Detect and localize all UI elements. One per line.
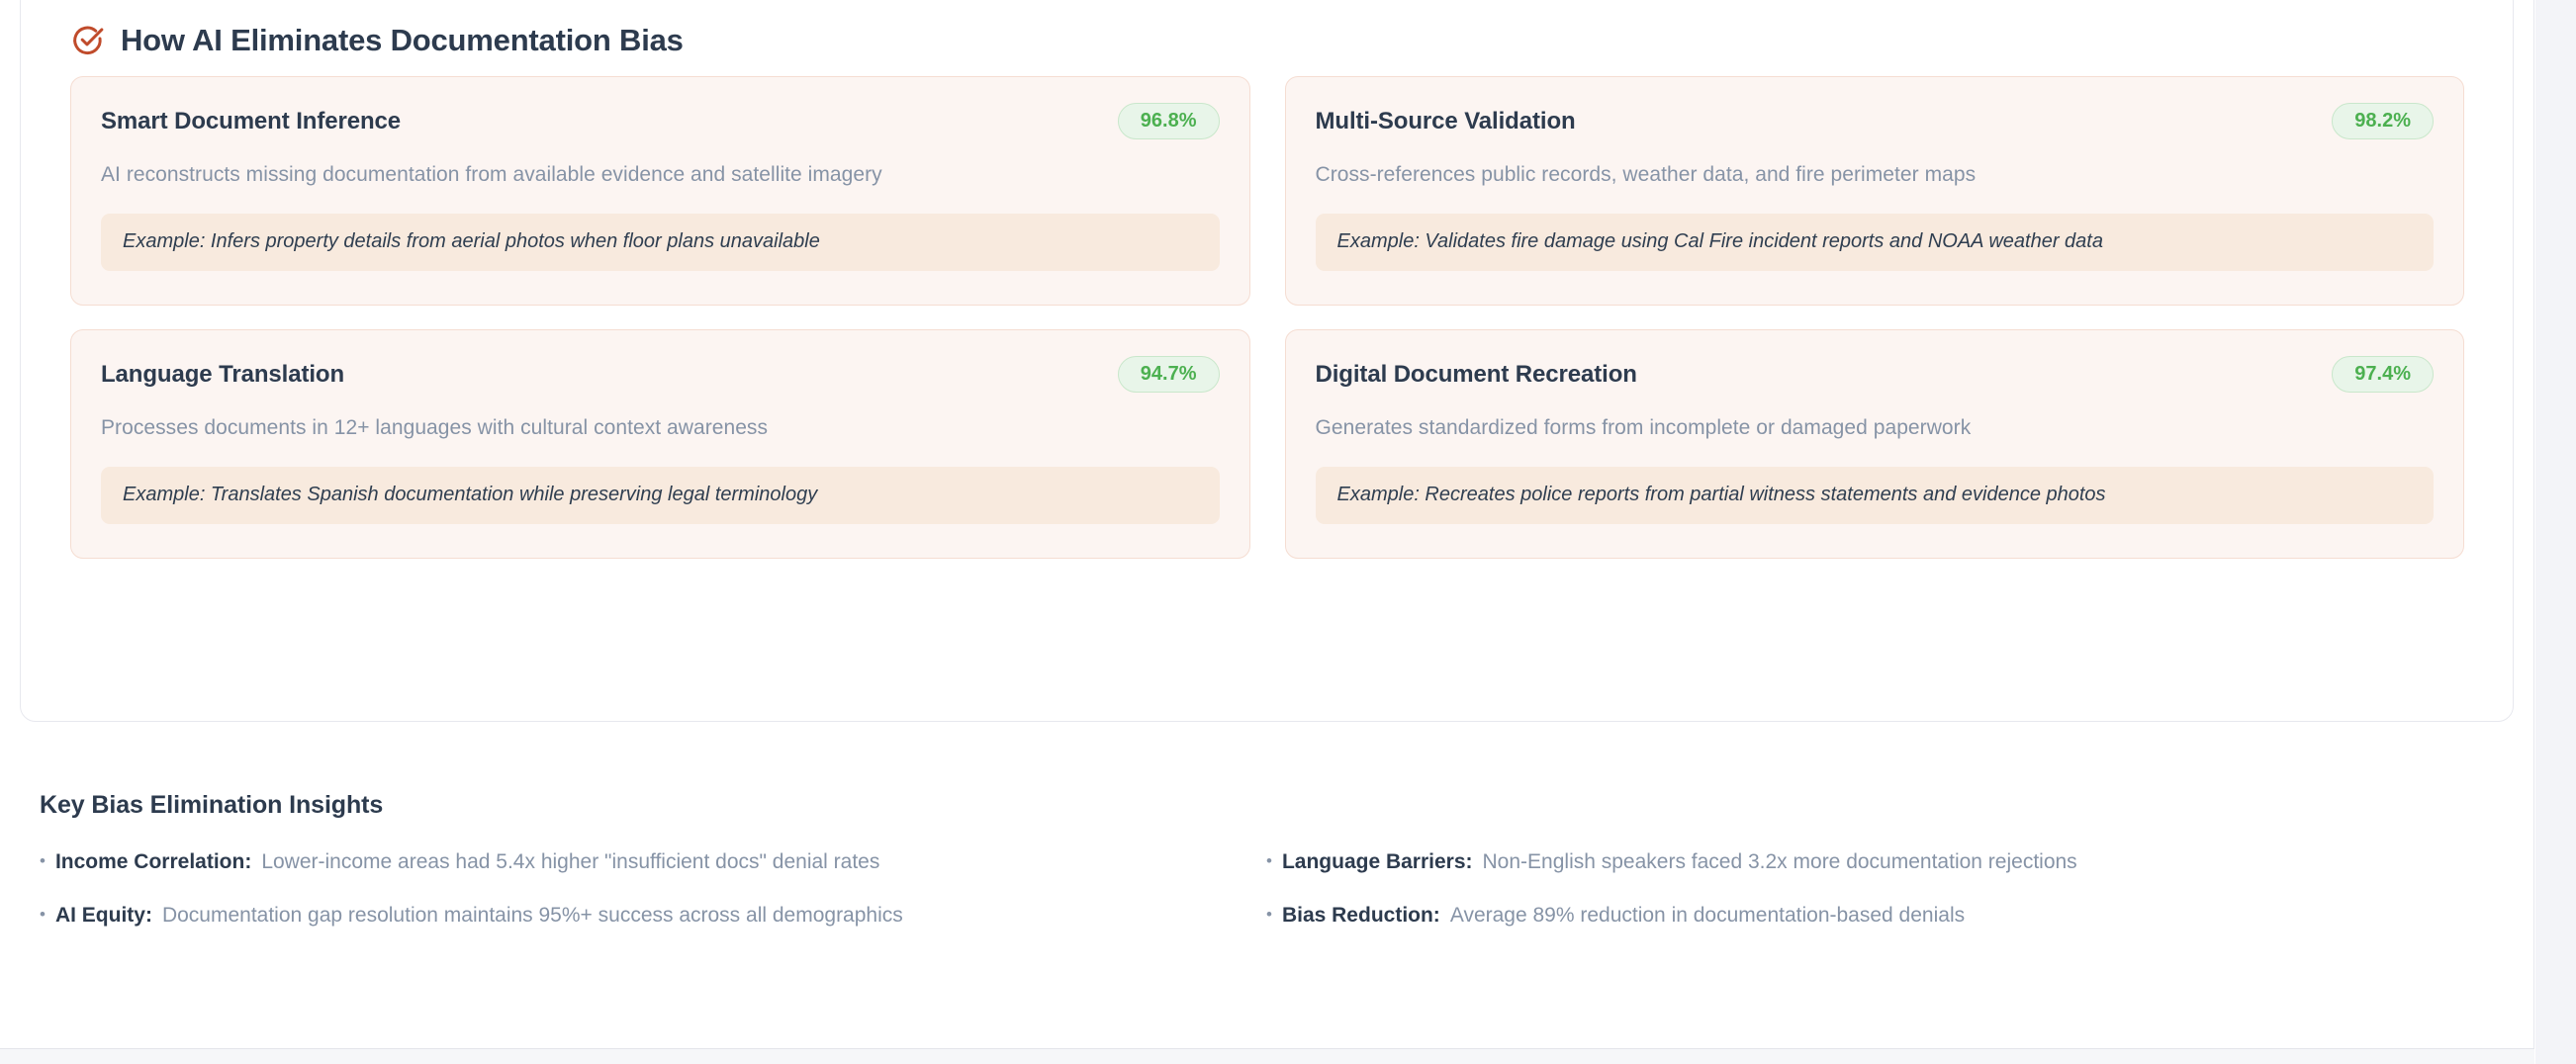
panel-header: How AI Eliminates Documentation Bias <box>70 23 684 58</box>
documentation-bias-panel: How AI Eliminates Documentation Bias Sma… <box>20 0 2514 722</box>
vertical-scrollbar[interactable] <box>2535 0 2576 1064</box>
key-insights-section: Key Bias Elimination Insights • Income C… <box>40 791 2493 928</box>
card-header: Digital Document Recreation 97.4% <box>1316 356 2435 393</box>
card-title: Digital Document Recreation <box>1316 361 1637 389</box>
capability-card[interactable]: Smart Document Inference 96.8% AI recons… <box>70 76 1250 306</box>
card-title: Multi-Source Validation <box>1316 108 1576 135</box>
accuracy-badge: 94.7% <box>1118 356 1220 393</box>
card-example: Example: Recreates police reports from p… <box>1316 467 2435 524</box>
insight-label: AI Equity: <box>55 904 152 928</box>
card-description: Cross-references public records, weather… <box>1316 163 2435 187</box>
card-header: Multi-Source Validation 98.2% <box>1316 103 2435 139</box>
insight-item: • Income Correlation: Lower-income areas… <box>40 850 1266 874</box>
insight-label: Bias Reduction: <box>1282 904 1440 928</box>
card-example: Example: Translates Spanish documentatio… <box>101 467 1220 524</box>
card-description: Generates standardized forms from incomp… <box>1316 416 2435 440</box>
insight-item: • AI Equity: Documentation gap resolutio… <box>40 904 1266 928</box>
card-title: Language Translation <box>101 361 344 389</box>
accuracy-badge: 98.2% <box>2332 103 2434 139</box>
card-title: Smart Document Inference <box>101 108 401 135</box>
insight-text: Documentation gap resolution maintains 9… <box>162 904 903 928</box>
bullet-icon: • <box>1266 906 1272 923</box>
insight-text: Non-English speakers faced 3.2x more doc… <box>1483 850 2077 874</box>
card-example: Example: Infers property details from ae… <box>101 214 1220 271</box>
card-header: Smart Document Inference 96.8% <box>101 103 1220 139</box>
page-content: How AI Eliminates Documentation Bias Sma… <box>0 0 2534 1064</box>
bullet-icon: • <box>40 852 46 869</box>
capability-card[interactable]: Digital Document Recreation 97.4% Genera… <box>1285 329 2465 559</box>
page-title: How AI Eliminates Documentation Bias <box>121 23 684 58</box>
insight-label: Language Barriers: <box>1282 850 1473 874</box>
card-header: Language Translation 94.7% <box>101 356 1220 393</box>
capability-card[interactable]: Multi-Source Validation 98.2% Cross-refe… <box>1285 76 2465 306</box>
insights-title: Key Bias Elimination Insights <box>40 791 2493 820</box>
bullet-icon: • <box>1266 852 1272 869</box>
card-description: Processes documents in 12+ languages wit… <box>101 416 1220 440</box>
circle-check-icon <box>70 24 104 57</box>
insight-text: Average 89% reduction in documentation-b… <box>1450 904 1965 928</box>
bottom-strip <box>0 1049 2534 1064</box>
capability-card[interactable]: Language Translation 94.7% Processes doc… <box>70 329 1250 559</box>
accuracy-badge: 96.8% <box>1118 103 1220 139</box>
insight-item: • Language Barriers: Non-English speaker… <box>1266 850 2493 874</box>
capability-card-grid: Smart Document Inference 96.8% AI recons… <box>70 76 2464 559</box>
card-description: AI reconstructs missing documentation fr… <box>101 163 1220 187</box>
bullet-icon: • <box>40 906 46 923</box>
insight-text: Lower-income areas had 5.4x higher "insu… <box>261 850 879 874</box>
insight-label: Income Correlation: <box>55 850 251 874</box>
accuracy-badge: 97.4% <box>2332 356 2434 393</box>
insight-item: • Bias Reduction: Average 89% reduction … <box>1266 904 2493 928</box>
insights-grid: • Income Correlation: Lower-income areas… <box>40 850 2493 928</box>
card-example: Example: Validates fire damage using Cal… <box>1316 214 2435 271</box>
screenshot-viewport: How AI Eliminates Documentation Bias Sma… <box>0 0 2576 1064</box>
